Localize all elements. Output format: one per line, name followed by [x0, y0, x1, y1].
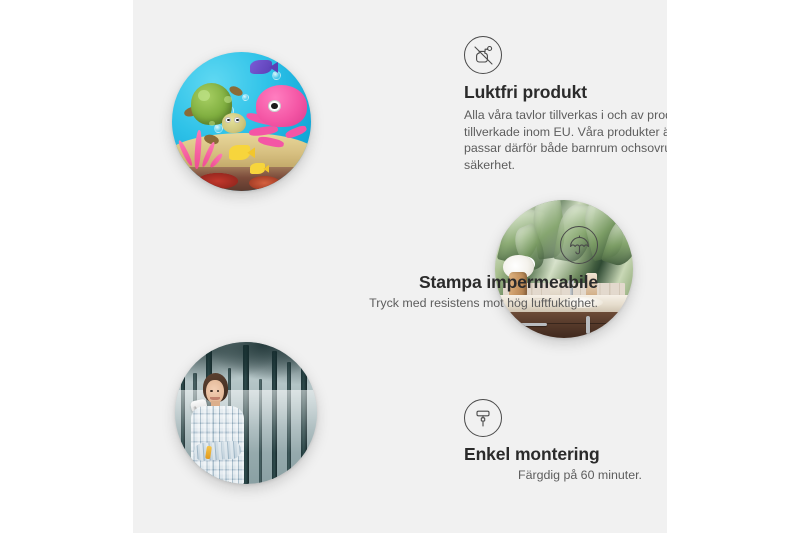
feature-waterproof: Stampa impermeabile Tryck med resistens …: [308, 226, 598, 312]
coral-branch: [209, 153, 223, 169]
feature-body: Tryck med resistens mot hög luftfuktighe…: [308, 295, 598, 312]
turtle-head: [222, 113, 246, 133]
eye: [217, 390, 220, 392]
woman-with-roller: [184, 373, 258, 484]
octopus-tentacle: [258, 136, 285, 149]
feature-odourless: Luktfri produkt Alla våra tavlor tillver…: [464, 36, 667, 173]
ocean-floor-strip: [172, 167, 311, 191]
product-image-ocean[interactable]: [172, 52, 311, 191]
ocean-scene: [172, 52, 311, 191]
cabinet-handle: [586, 316, 589, 334]
feature-body: Färgdig på 60 minuter.: [464, 467, 667, 484]
octopus-eye: [268, 100, 281, 113]
feature-title: Luktfri produkt: [464, 82, 667, 103]
folded-arms: [193, 440, 241, 461]
icon-wrapper: [308, 226, 598, 264]
feature-mounting: Enkel montering Färgdig på 60 minuter.: [464, 399, 667, 484]
feature-panel: Luktfri produkt Alla våra tavlor tillver…: [133, 0, 667, 533]
octopus-tentacle: [285, 125, 308, 140]
turtle-eye: [234, 117, 240, 123]
cabinet-handle: [614, 316, 617, 334]
turtle-eye: [225, 117, 231, 123]
octopus-head: [256, 85, 307, 127]
tropical-fish: [229, 145, 250, 160]
feature-body: Alla våra tavlor tillverkas i och av pro…: [464, 107, 667, 173]
feature-title: Stampa impermeabile: [308, 272, 598, 293]
paint-roller-icon: [464, 399, 502, 437]
product-image-forest[interactable]: [175, 342, 317, 484]
coral: [176, 123, 223, 169]
coral-branch: [194, 130, 202, 169]
purple-fish: [250, 60, 272, 74]
umbrella-icon: [560, 226, 598, 264]
no-fragrance-icon: [464, 36, 502, 74]
forest-scene: [175, 342, 317, 484]
eye: [210, 390, 213, 392]
drawer-handle: [517, 323, 547, 326]
screenshot-canvas: Luktfri produkt Alla våra tavlor tillver…: [0, 0, 800, 533]
feature-title: Enkel montering: [464, 444, 667, 465]
octopus: [244, 85, 308, 155]
